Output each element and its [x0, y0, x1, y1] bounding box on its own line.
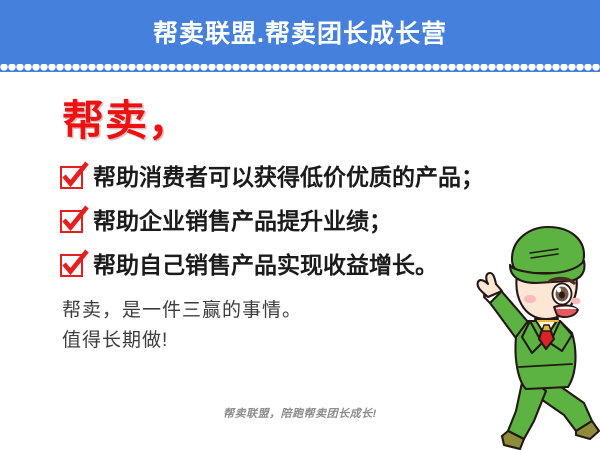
- checked-checkbox-icon: [60, 166, 83, 189]
- headline: 帮卖，: [62, 100, 191, 142]
- bullet-item-label: 帮助消费者可以获得低价优质的产品；: [93, 166, 484, 189]
- header-bar: 帮卖联盟.帮卖团长成长营: [0, 0, 600, 72]
- footer-tagline: 帮卖联盟，陪跑帮卖团长成长!: [0, 405, 600, 421]
- bullet-item: 帮助自己销售产品实现收益增长。: [60, 250, 438, 280]
- bullet-item: 帮助企业销售产品提升业绩；: [60, 206, 392, 236]
- note-line: 值得长期做!: [62, 331, 168, 350]
- note-line: 帮卖，是一件三赢的事情。: [62, 301, 302, 320]
- bullet-item-label: 帮助自己销售产品实现收益增长。: [93, 254, 438, 277]
- checked-checkbox-icon: [60, 254, 83, 277]
- page-title: 帮卖联盟.帮卖团长成长营: [153, 22, 447, 47]
- main-content: 帮卖， 帮助消费者可以获得低价优质的产品； 帮助企业销售产品提升业绩； 帮助自己…: [0, 76, 600, 450]
- bullet-item: 帮助消费者可以获得低价优质的产品；: [60, 162, 484, 192]
- bullet-item-label: 帮助企业销售产品提升业绩；: [93, 210, 392, 233]
- checked-checkbox-icon: [60, 210, 83, 233]
